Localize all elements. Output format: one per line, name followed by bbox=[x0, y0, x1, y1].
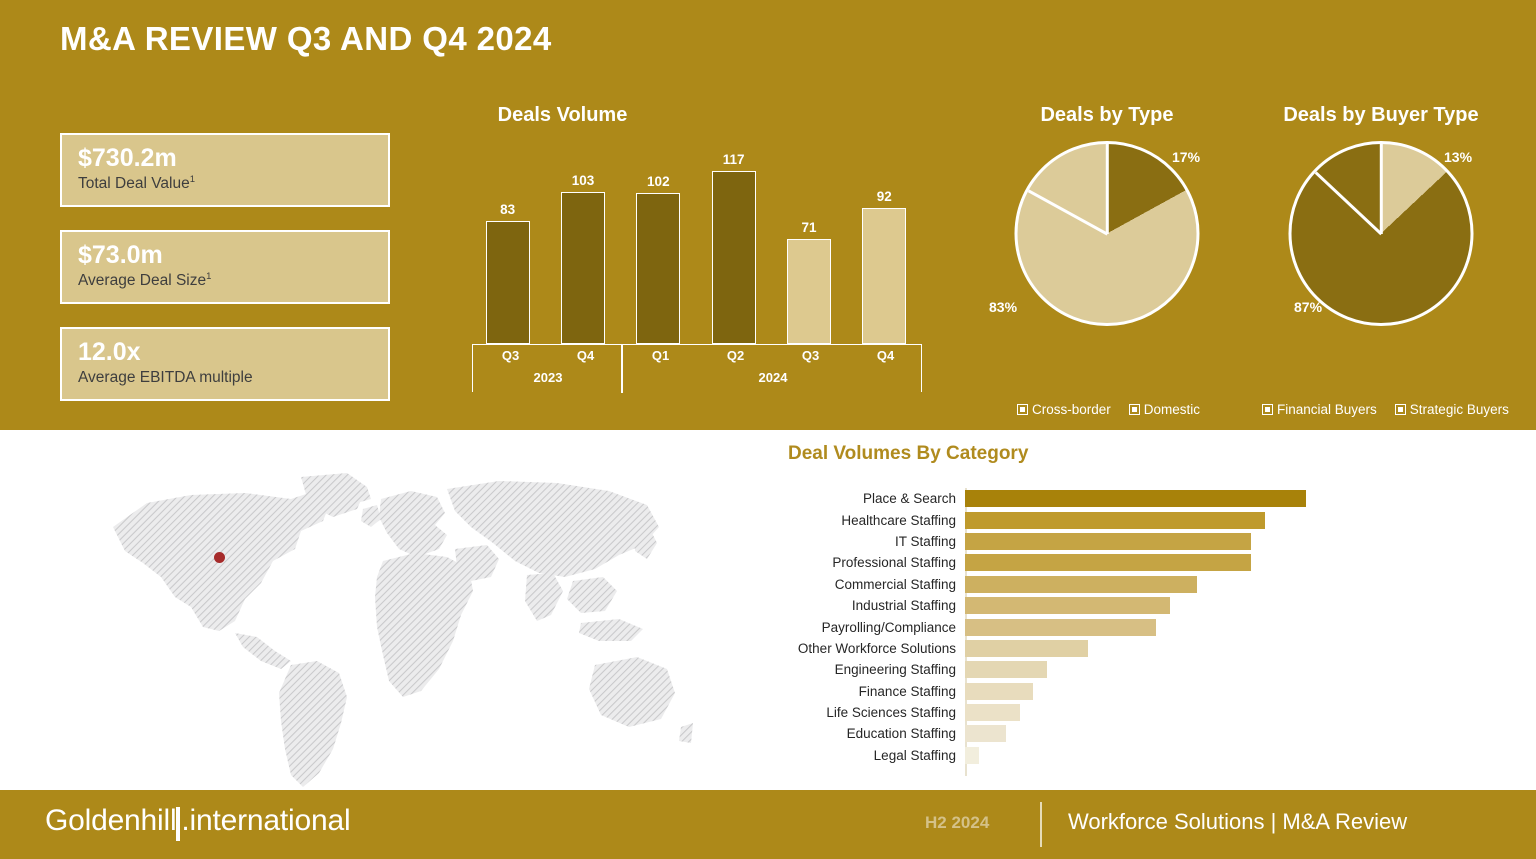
chart-bar-track bbox=[965, 512, 1536, 529]
stat-card-average-ebitda-multiple: 12.0x Average EBITDA multiple bbox=[60, 327, 390, 401]
chart-category-label: IT Staffing bbox=[770, 534, 965, 549]
pie-value-label-financial-buyers: 13% bbox=[1444, 149, 1472, 165]
chart-bar-value: 71 bbox=[801, 220, 816, 235]
chart-title: Deals Volume bbox=[470, 104, 655, 127]
legend-label: Cross-border bbox=[1032, 402, 1111, 417]
chart-row: Professional Staffing bbox=[770, 552, 1536, 573]
footer-period: H2 2024 bbox=[925, 813, 989, 833]
deals-by-type-legend: Cross-border Domestic bbox=[1017, 402, 1200, 417]
top-gold-band: M&A REVIEW Q3 AND Q4 2024 $730.2m Total … bbox=[0, 0, 1536, 430]
chart-bar-track bbox=[965, 725, 1536, 742]
chart-bar-slot: 103 bbox=[545, 152, 620, 344]
legend-item-strategic-buyers: Strategic Buyers bbox=[1395, 402, 1509, 417]
chart-category-label: Payrolling/Compliance bbox=[770, 620, 965, 635]
chart-bar-slot: 83 bbox=[470, 152, 545, 344]
logo-main-text: Goldenhill bbox=[45, 804, 176, 838]
chart-bar bbox=[486, 221, 530, 344]
chart-bar bbox=[787, 239, 831, 344]
stat-value: $730.2m bbox=[78, 144, 372, 173]
chart-quarter-tick: Q4 bbox=[556, 348, 616, 363]
chart-year-tick: 2023 bbox=[518, 370, 578, 385]
chart-quarter-tick: Q4 bbox=[856, 348, 916, 363]
chart-row: Finance Staffing bbox=[770, 681, 1536, 702]
logo-bar-icon bbox=[176, 807, 180, 841]
chart-bar bbox=[965, 747, 979, 764]
stat-label-text: Average EBITDA multiple bbox=[78, 369, 253, 386]
chart-quarter-tick: Q1 bbox=[631, 348, 691, 363]
chart-row: Engineering Staffing bbox=[770, 659, 1536, 680]
chart-bar bbox=[965, 661, 1047, 678]
chart-category-label: Professional Staffing bbox=[770, 555, 965, 570]
chart-bar-track bbox=[965, 597, 1536, 614]
stat-footnote-marker: 1 bbox=[206, 271, 211, 282]
deals-by-type-chart: Deals by Type 17% 83% bbox=[982, 104, 1232, 341]
stat-cards-group: $730.2m Total Deal Value1 $73.0m Average… bbox=[60, 133, 390, 424]
deal-volumes-by-category-chart: Deal Volumes By Category Place & SearchH… bbox=[770, 430, 1536, 790]
footer-divider bbox=[1040, 802, 1042, 847]
legend-label: Domestic bbox=[1144, 402, 1200, 417]
pie-value-label-strategic-buyers: 87% bbox=[1294, 299, 1322, 315]
pie-value-label-domestic: 83% bbox=[989, 299, 1017, 315]
deals-by-buyer-type-chart: Deals by Buyer Type 13% 87% bbox=[1256, 104, 1506, 341]
chart-bar-track bbox=[965, 661, 1536, 678]
chart-bar bbox=[965, 597, 1170, 614]
legend-swatch-icon bbox=[1017, 404, 1028, 415]
chart-year-tick: 2024 bbox=[743, 370, 803, 385]
chart-bar bbox=[965, 619, 1156, 636]
chart-title: Deal Volumes By Category bbox=[788, 443, 1028, 465]
chart-bar-slot: 117 bbox=[696, 152, 771, 344]
deals-volume-chart: Deals Volume 831031021177192 Q3Q4Q1Q2Q3Q… bbox=[470, 104, 930, 394]
chart-bar-track bbox=[965, 640, 1536, 657]
chart-bar-value: 92 bbox=[877, 189, 892, 204]
chart-bar bbox=[965, 640, 1088, 657]
map-dot-north-america bbox=[214, 552, 225, 563]
pie-graphic bbox=[1015, 141, 1200, 326]
chart-category-label: Education Staffing bbox=[770, 726, 965, 741]
chart-axis-box: Q3Q4Q1Q2Q3Q420232024 bbox=[472, 344, 922, 392]
chart-bar bbox=[636, 193, 680, 344]
chart-row: Legal Staffing bbox=[770, 745, 1536, 766]
stat-label: Average EBITDA multiple bbox=[78, 368, 372, 387]
chart-row: Education Staffing bbox=[770, 723, 1536, 744]
chart-bar-slot: 71 bbox=[771, 152, 846, 344]
page-title: M&A REVIEW Q3 AND Q4 2024 bbox=[60, 20, 552, 58]
stat-footnote-marker: 1 bbox=[190, 174, 195, 185]
chart-row: IT Staffing bbox=[770, 531, 1536, 552]
pie-slice-separator-end bbox=[1028, 189, 1108, 234]
chart-bar bbox=[965, 533, 1251, 550]
chart-row: Commercial Staffing bbox=[770, 574, 1536, 595]
chart-title: Deals by Type bbox=[982, 104, 1232, 127]
stat-label-text: Total Deal Value bbox=[78, 175, 190, 192]
chart-quarter-tick: Q3 bbox=[481, 348, 541, 363]
chart-bar-track bbox=[965, 554, 1536, 571]
pie-value-label-cross-border: 17% bbox=[1172, 149, 1200, 165]
legend-label: Strategic Buyers bbox=[1410, 402, 1509, 417]
chart-bar bbox=[965, 683, 1033, 700]
chart-bar-track bbox=[965, 533, 1536, 550]
company-logo: Goldenhill.international bbox=[45, 804, 350, 838]
pie-slice-separator-start bbox=[1106, 144, 1109, 234]
pie-slice-separator-start bbox=[1380, 144, 1383, 234]
footer-bar: Goldenhill.international H2 2024 Workfor… bbox=[0, 790, 1536, 859]
chart-category-label: Place & Search bbox=[770, 491, 965, 506]
stat-value: $73.0m bbox=[78, 241, 372, 270]
legend-swatch-icon bbox=[1129, 404, 1140, 415]
chart-row: Place & Search bbox=[770, 488, 1536, 509]
chart-category-label: Legal Staffing bbox=[770, 748, 965, 763]
chart-bar-value: 102 bbox=[647, 174, 670, 189]
chart-category-label: Healthcare Staffing bbox=[770, 513, 965, 528]
chart-bar bbox=[862, 208, 906, 344]
chart-row: Healthcare Staffing bbox=[770, 509, 1536, 530]
chart-bar bbox=[561, 192, 605, 344]
stat-card-average-deal-size: $73.0m Average Deal Size1 bbox=[60, 230, 390, 304]
footer-subtitle: Workforce Solutions | M&A Review bbox=[1068, 809, 1407, 835]
chart-category-label: Engineering Staffing bbox=[770, 662, 965, 677]
slide-root: M&A REVIEW Q3 AND Q4 2024 $730.2m Total … bbox=[0, 0, 1536, 859]
chart-quarter-tick: Q3 bbox=[781, 348, 841, 363]
chart-bar bbox=[712, 171, 756, 344]
legend-label: Financial Buyers bbox=[1277, 402, 1377, 417]
chart-quarter-tick: Q2 bbox=[706, 348, 766, 363]
chart-rows: Place & SearchHealthcare StaffingIT Staf… bbox=[770, 488, 1536, 766]
chart-row: Life Sciences Staffing bbox=[770, 702, 1536, 723]
pie-area: 17% 83% bbox=[982, 141, 1232, 341]
chart-bar-value: 83 bbox=[500, 202, 515, 217]
stat-value: 12.0x bbox=[78, 338, 372, 367]
legend-item-financial-buyers: Financial Buyers bbox=[1262, 402, 1377, 417]
legend-swatch-icon bbox=[1262, 404, 1273, 415]
chart-category-label: Other Workforce Solutions bbox=[770, 641, 965, 656]
chart-bar-slot: 102 bbox=[621, 152, 696, 344]
stat-label: Average Deal Size1 bbox=[78, 271, 372, 291]
chart-bar-track bbox=[965, 576, 1536, 593]
chart-bar bbox=[965, 490, 1306, 507]
chart-bar-track bbox=[965, 704, 1536, 721]
chart-bar bbox=[965, 725, 1006, 742]
chart-row: Industrial Staffing bbox=[770, 595, 1536, 616]
world-map-graphic bbox=[95, 465, 695, 795]
logo-suffix-text: .international bbox=[181, 804, 350, 838]
stat-label: Total Deal Value1 bbox=[78, 174, 372, 194]
chart-plot-area: 831031021177192 Q3Q4Q1Q2Q3Q420232024 bbox=[470, 150, 922, 392]
legend-swatch-icon bbox=[1395, 404, 1406, 415]
chart-bar-slot: 92 bbox=[847, 152, 922, 344]
chart-bar bbox=[965, 704, 1020, 721]
chart-row: Other Workforce Solutions bbox=[770, 638, 1536, 659]
chart-bars: 831031021177192 bbox=[470, 152, 922, 344]
chart-bar-value: 103 bbox=[572, 173, 595, 188]
chart-category-label: Life Sciences Staffing bbox=[770, 705, 965, 720]
chart-category-label: Industrial Staffing bbox=[770, 598, 965, 613]
chart-bar-track bbox=[965, 619, 1536, 636]
chart-category-label: Commercial Staffing bbox=[770, 577, 965, 592]
chart-row: Payrolling/Compliance bbox=[770, 616, 1536, 637]
chart-year-divider bbox=[621, 345, 623, 393]
pie-slice-separator-end bbox=[1315, 171, 1382, 234]
regional-deal-map: North America Buyers 65 Targets 61 Europ… bbox=[0, 430, 770, 790]
legend-item-domestic: Domestic bbox=[1129, 402, 1200, 417]
deals-by-buyer-type-legend: Financial Buyers Strategic Buyers bbox=[1262, 402, 1509, 417]
stat-label-text: Average Deal Size bbox=[78, 272, 206, 289]
chart-bar-track bbox=[965, 683, 1536, 700]
stat-card-total-deal-value: $730.2m Total Deal Value1 bbox=[60, 133, 390, 207]
chart-bar bbox=[965, 554, 1251, 571]
pie-area: 13% 87% bbox=[1256, 141, 1506, 341]
chart-bar-track bbox=[965, 747, 1536, 764]
legend-item-cross-border: Cross-border bbox=[1017, 402, 1111, 417]
chart-bar-track bbox=[965, 490, 1536, 507]
chart-bar bbox=[965, 512, 1265, 529]
chart-category-label: Finance Staffing bbox=[770, 684, 965, 699]
chart-title: Deals by Buyer Type bbox=[1256, 104, 1506, 127]
chart-bar bbox=[965, 576, 1197, 593]
chart-bar-value: 117 bbox=[723, 152, 745, 167]
